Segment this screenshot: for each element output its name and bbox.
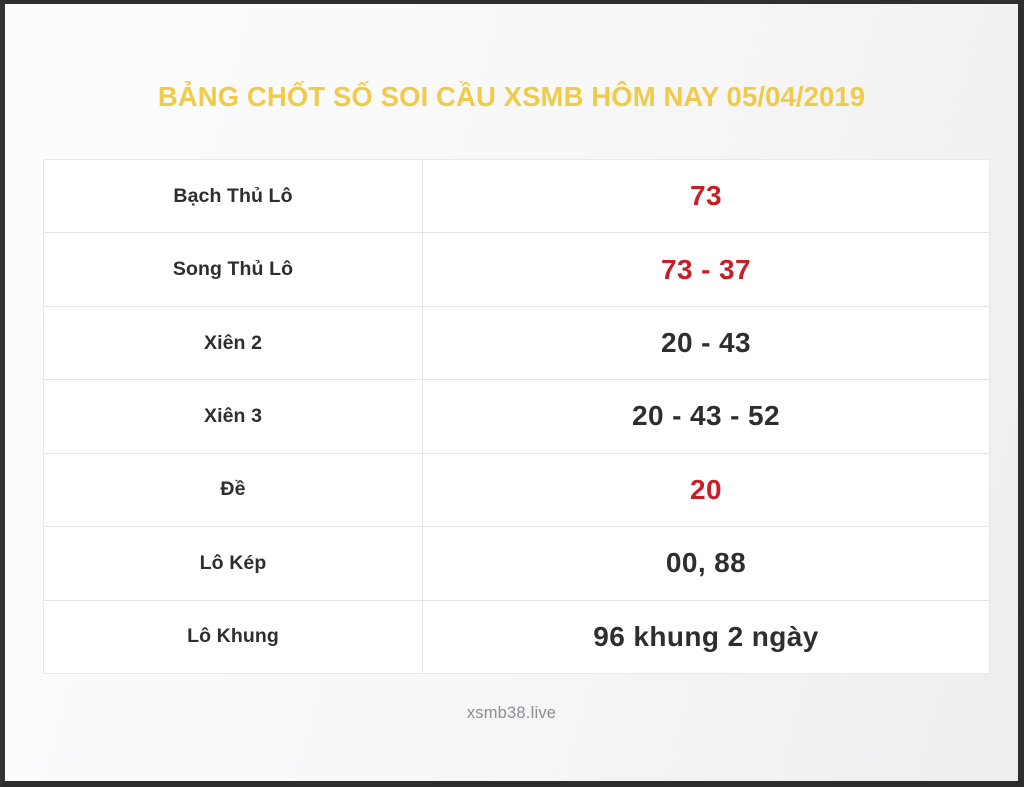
row-value-xien-2: 20 - 43 [423, 307, 989, 379]
prediction-table: Bạch Thủ Lô 73 Song Thủ Lô 73 - 37 Xiên … [43, 159, 990, 674]
row-value-lo-khung: 96 khung 2 ngày [423, 601, 989, 673]
prediction-board: BẢNG CHỐT SỐ SOI CẦU XSMB HÔM NAY 05/04/… [5, 4, 1018, 781]
row-value-song-thu-lo: 73 - 37 [423, 233, 989, 305]
page-title: BẢNG CHỐT SỐ SOI CẦU XSMB HÔM NAY 05/04/… [5, 82, 1018, 112]
table-row: Xiên 3 20 - 43 - 52 [44, 380, 989, 453]
image-frame: BẢNG CHỐT SỐ SOI CẦU XSMB HÔM NAY 05/04/… [0, 0, 1024, 787]
row-value-bach-thu-lo: 73 [423, 160, 989, 232]
table-row: Song Thủ Lô 73 - 37 [44, 233, 989, 306]
row-label-song-thu-lo: Song Thủ Lô [44, 233, 423, 305]
row-label-bach-thu-lo: Bạch Thủ Lô [44, 160, 423, 232]
table-row: Xiên 2 20 - 43 [44, 307, 989, 380]
row-label-xien-2: Xiên 2 [44, 307, 423, 379]
row-value-lo-kep: 00, 88 [423, 527, 989, 599]
table-row: Đề 20 [44, 454, 989, 527]
table-row: Lô Kép 00, 88 [44, 527, 989, 600]
table-row: Lô Khung 96 khung 2 ngày [44, 601, 989, 673]
row-label-lo-khung: Lô Khung [44, 601, 423, 673]
row-label-de: Đề [44, 454, 423, 526]
row-label-lo-kep: Lô Kép [44, 527, 423, 599]
row-label-xien-3: Xiên 3 [44, 380, 423, 452]
footer-site-label: xsmb38.live [5, 704, 1018, 723]
table-row: Bạch Thủ Lô 73 [44, 160, 989, 233]
row-value-xien-3: 20 - 43 - 52 [423, 380, 989, 452]
row-value-de: 20 [423, 454, 989, 526]
